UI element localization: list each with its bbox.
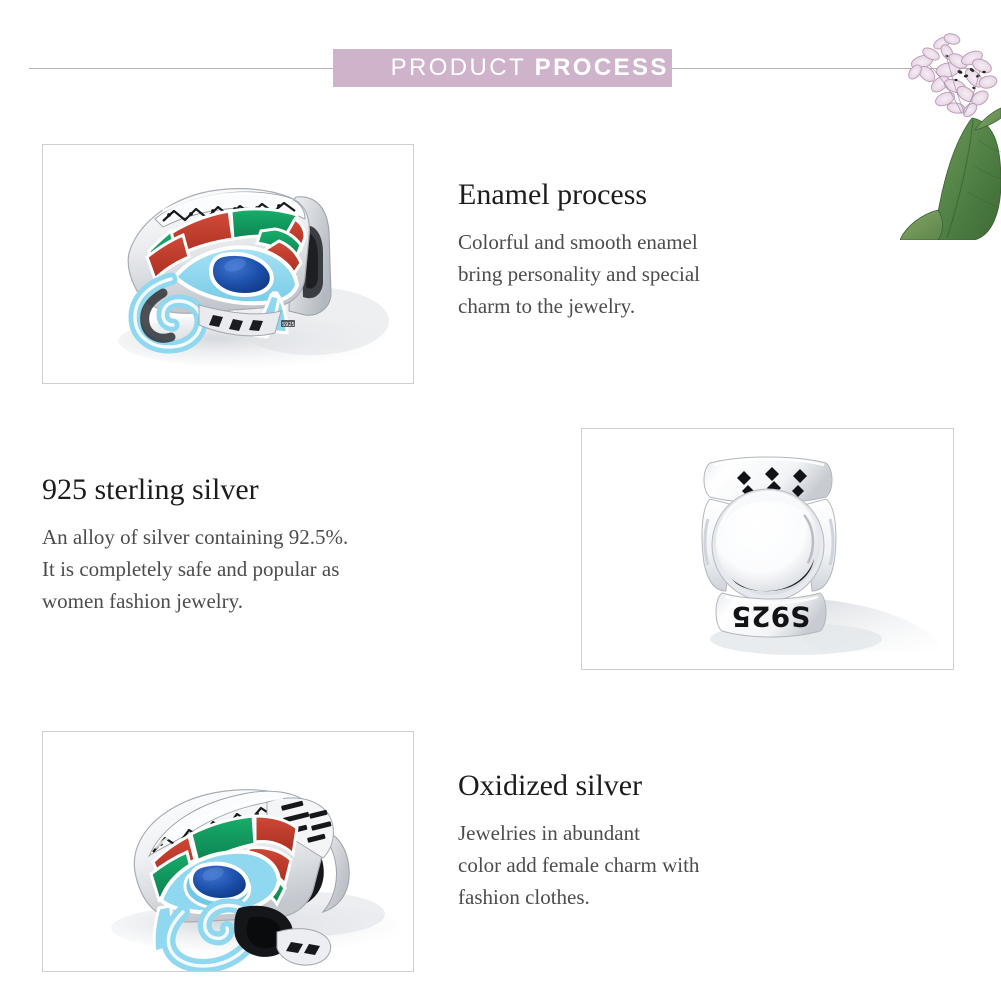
feature-block-sterling-silver: 925 sterling silver An alloy of silver c… (42, 473, 522, 618)
feature-title: Enamel process (458, 178, 828, 211)
banner-title-light: PRODUCT (391, 54, 535, 81)
svg-text:S925: S925 (732, 600, 811, 633)
feature-body: An alloy of silver containing 92.5%. It … (42, 522, 522, 618)
product-photo-enamel[interactable]: S925 (42, 144, 414, 384)
feature-block-enamel-process: Enamel process Colorful and smooth ename… (458, 178, 828, 323)
page-header: PRODUCT PROCESS (0, 0, 1001, 118)
feature-body: Colorful and smooth enamel bring persona… (458, 227, 828, 323)
svg-text:S925: S925 (282, 322, 295, 328)
section-title-banner: PRODUCT PROCESS (333, 49, 672, 87)
feature-title: 925 sterling silver (42, 473, 522, 506)
lilac-blossom-icon (900, 0, 1001, 240)
feature-title: Oxidized silver (458, 769, 828, 802)
banner-title-bold: PROCESS (535, 54, 669, 81)
product-photo-oxidized[interactable] (42, 731, 414, 972)
header-rule-left (29, 68, 334, 69)
product-photo-s925[interactable]: S925 (581, 428, 954, 670)
feature-body: Jewelries in abundant color add female c… (458, 818, 828, 914)
feature-block-oxidized-silver: Oxidized silver Jewelries in abundant co… (458, 769, 828, 914)
